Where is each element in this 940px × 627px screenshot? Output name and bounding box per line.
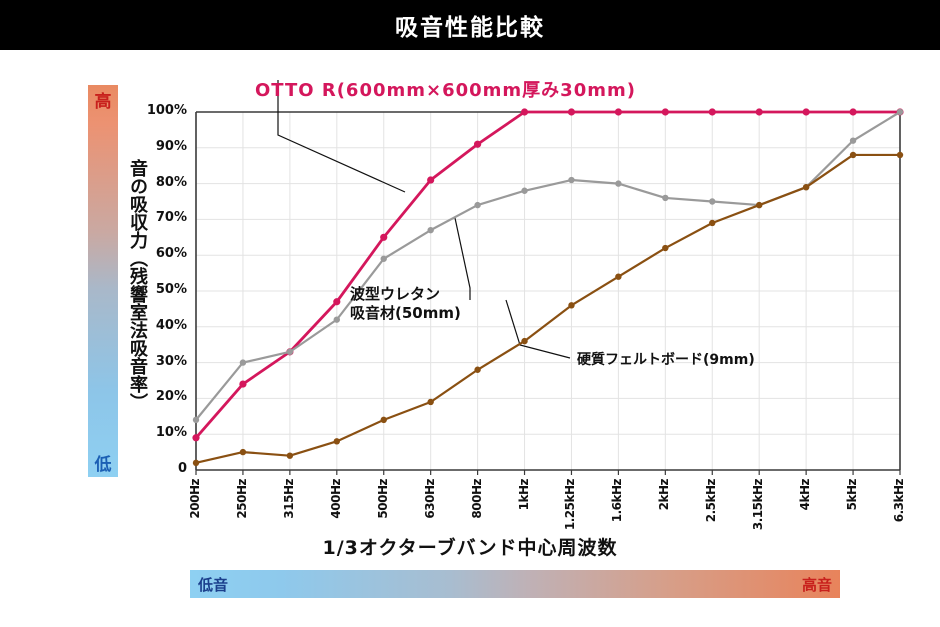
- x-tick-label: 3.15kHz: [751, 479, 765, 530]
- data-point-urethane: [427, 227, 433, 233]
- data-point-felt: [427, 399, 433, 405]
- data-point-otto: [756, 108, 763, 115]
- y-tick-label: 50%: [139, 282, 187, 297]
- data-point-urethane: [474, 202, 480, 208]
- data-point-felt: [709, 220, 715, 226]
- data-point-felt: [803, 184, 809, 190]
- y-tick-label: 90%: [139, 139, 187, 154]
- chart-page: 吸音性能比較 高 低 音の吸収力（残響室法吸音率） 010%20%30%40%5…: [0, 0, 940, 627]
- data-point-otto: [239, 380, 246, 387]
- data-point-otto: [427, 176, 434, 183]
- data-point-felt: [521, 338, 527, 344]
- series-label-urethane: 波型ウレタン 吸音材(50mm): [350, 285, 461, 323]
- data-point-urethane: [521, 188, 527, 194]
- x-tick-label: 315Hz: [282, 479, 296, 519]
- y-tick-label: 30%: [139, 354, 187, 369]
- data-point-felt: [568, 302, 574, 308]
- data-point-otto: [849, 108, 856, 115]
- data-point-otto: [615, 108, 622, 115]
- data-point-otto: [803, 108, 810, 115]
- data-point-urethane: [850, 137, 856, 143]
- data-point-urethane: [381, 256, 387, 262]
- x-tick-label: 400Hz: [329, 479, 343, 519]
- callout-leader-2: [506, 300, 570, 358]
- y-tick-label: 40%: [139, 318, 187, 333]
- series-label-felt: 硬質フェルトボード(9mm): [577, 349, 755, 369]
- y-tick-label: 100%: [139, 103, 187, 118]
- x-tick-label: 1.25kHz: [563, 479, 577, 530]
- series-line-otto: [196, 112, 900, 438]
- x-tick-label: 1.6kHz: [610, 479, 624, 522]
- data-point-urethane: [240, 359, 246, 365]
- y-tick-label: 60%: [139, 246, 187, 261]
- y-tick-label: 10%: [139, 425, 187, 440]
- x-tick-label: 800Hz: [470, 479, 484, 519]
- x-tick-label: 500Hz: [376, 479, 390, 519]
- data-point-felt: [756, 202, 762, 208]
- y-tick-label: 80%: [139, 175, 187, 190]
- data-point-urethane: [615, 180, 621, 186]
- y-tick-label: 0: [139, 461, 187, 476]
- horizontal-gradient-scale: 低音 高音: [190, 570, 840, 598]
- data-point-urethane: [709, 198, 715, 204]
- data-point-otto: [380, 234, 387, 241]
- horizontal-scale-low-label: 低音: [190, 574, 236, 595]
- data-point-otto: [192, 434, 199, 441]
- data-point-felt: [615, 273, 621, 279]
- x-axis-title: 1/3オクターブバンド中心周波数: [0, 533, 940, 560]
- data-point-urethane: [287, 349, 293, 355]
- data-point-felt: [850, 152, 856, 158]
- x-tick-label: 5kHz: [845, 479, 859, 510]
- x-tick-label: 250Hz: [235, 479, 249, 519]
- data-point-otto: [709, 108, 716, 115]
- x-tick-label: 1kHz: [517, 479, 531, 510]
- x-tick-label: 200Hz: [188, 479, 202, 519]
- y-tick-label: 70%: [139, 210, 187, 225]
- data-point-felt: [662, 245, 668, 251]
- data-point-otto: [333, 298, 340, 305]
- series-label-otto: OTTO R(600mm×600mm厚み30mm): [255, 76, 636, 102]
- data-point-felt: [287, 452, 293, 458]
- data-point-felt: [193, 460, 199, 466]
- horizontal-scale-high-label: 高音: [794, 574, 840, 595]
- data-point-felt: [240, 449, 246, 455]
- x-tick-label: 4kHz: [798, 479, 812, 510]
- data-point-urethane: [568, 177, 574, 183]
- series-line-urethane: [196, 112, 900, 420]
- x-tick-label: 2kHz: [657, 479, 671, 510]
- x-tick-label: 2.5kHz: [704, 479, 718, 522]
- x-tick-label: 630Hz: [423, 479, 437, 519]
- data-point-felt: [897, 152, 903, 158]
- data-point-otto: [568, 108, 575, 115]
- data-point-otto: [662, 108, 669, 115]
- x-tick-label: 6.3kHz: [892, 479, 906, 522]
- data-point-otto: [474, 141, 481, 148]
- y-tick-label: 20%: [139, 389, 187, 404]
- data-point-urethane: [897, 109, 903, 115]
- data-point-urethane: [662, 195, 668, 201]
- data-point-otto: [521, 108, 528, 115]
- data-point-felt: [381, 417, 387, 423]
- data-point-urethane: [193, 417, 199, 423]
- data-point-felt: [474, 367, 480, 373]
- series-line-felt: [196, 155, 900, 463]
- data-point-urethane: [334, 316, 340, 322]
- data-point-felt: [334, 438, 340, 444]
